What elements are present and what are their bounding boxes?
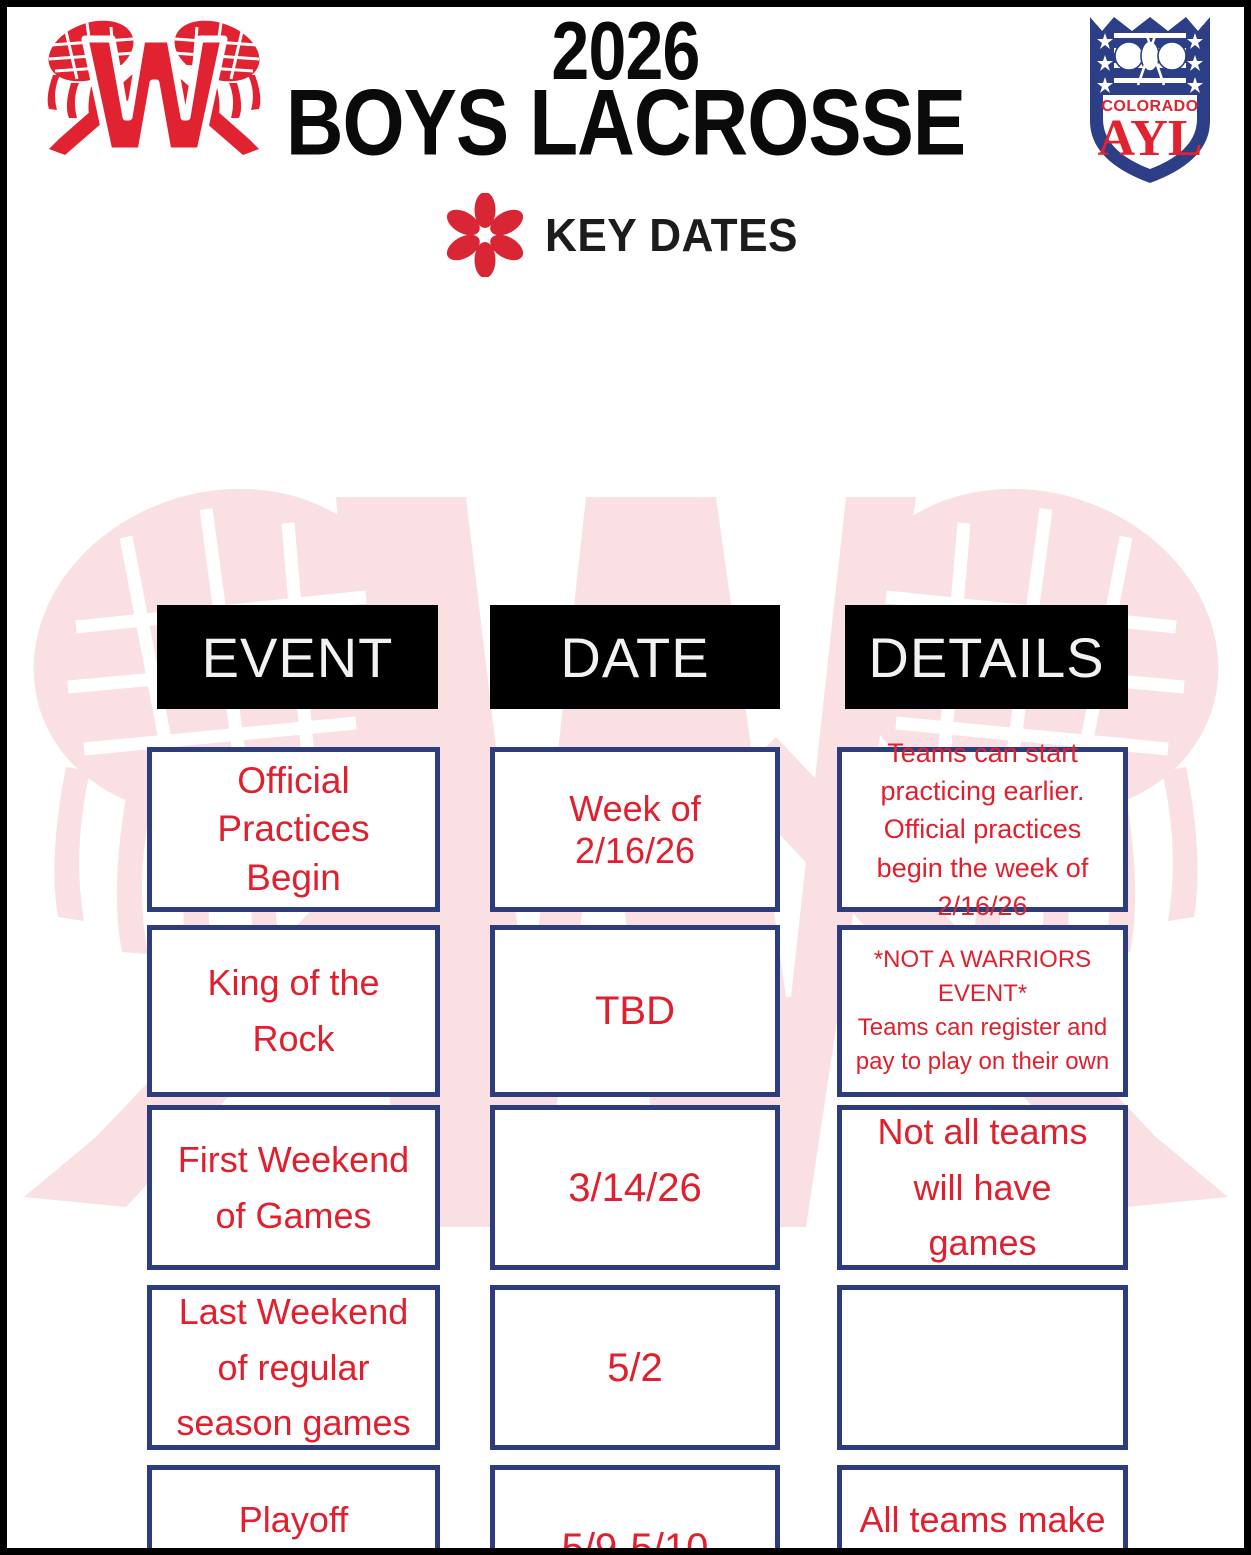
table-body: OfficialPracticesBegin Week of2/16/26 Te… [7,745,1251,1555]
cell-event-text: PlayoffWeekend [152,1492,435,1555]
cell-details-text: All teams makethe playoffs! [842,1492,1123,1555]
cell-event: PlayoffWeekend [147,1465,440,1555]
table-row: OfficialPracticesBegin Week of2/16/26 Te… [7,745,1251,925]
title-block: 2026 BOYS LACROSSE [7,13,1244,153]
cell-event: Last Weekendof regularseason games [147,1285,440,1450]
cell-date-text: TBD [495,988,775,1034]
cell-details: All teams makethe playoffs! [837,1465,1128,1555]
cell-details-text: Not all teamswill havegames [842,1104,1123,1271]
key-dates-label: KEY DATES [545,208,798,262]
table-row: First Weekendof Games 3/14/26 Not all te… [7,1105,1251,1285]
key-dates-subtitle-row: KEY DATES [7,193,1244,277]
cell-event-text: King of theRock [152,955,435,1067]
cell-date-text: Week of2/16/26 [495,788,775,871]
cell-details [837,1285,1128,1450]
cell-date: 5/2 [490,1285,780,1450]
column-header-event: EVENT [157,605,438,709]
cell-details: Not all teamswill havegames [837,1105,1128,1270]
cell-date: Week of2/16/26 [490,747,780,912]
table-row: King of theRock TBD *NOT A WARRIORS EVEN… [7,925,1251,1105]
cell-event-text: Last Weekendof regularseason games [152,1284,435,1451]
column-header-date: DATE [490,605,780,709]
column-header-details: DETAILS [845,605,1128,709]
cell-event: OfficialPracticesBegin [147,747,440,912]
cell-details: *NOT A WARRIORS EVENT*Teams can register… [837,925,1128,1097]
cell-event: First Weekendof Games [147,1105,440,1270]
cell-date: 5/9-5/10 [490,1465,780,1555]
flower-asterisk-icon [443,193,527,277]
cell-details-text: Teams can start practicing earlier. Offi… [842,734,1123,926]
colorado-ayl-shield-logo: COLORADO AYL [1084,11,1216,187]
page-title: BOYS LACROSSE [38,85,1213,160]
key-dates-flyer: 2026 BOYS LACROSSE [0,0,1251,1555]
cell-details-text: *NOT A WARRIORS EVENT*Teams can register… [842,943,1123,1079]
cell-date-text: 5/2 [495,1345,775,1391]
cell-date: 3/14/26 [490,1105,780,1270]
cell-date-text: 3/14/26 [495,1165,775,1211]
cell-event-text: First Weekendof Games [152,1132,435,1244]
cell-event: King of theRock [147,925,440,1097]
svg-text:AYL: AYL [1097,110,1202,167]
cell-date: TBD [490,925,780,1097]
cell-event-text: OfficialPracticesBegin [152,757,435,901]
cell-details: Teams can start practicing earlier. Offi… [837,747,1128,912]
flyer-header: 2026 BOYS LACROSSE [7,7,1244,297]
cell-date-text: 5/9-5/10 [495,1525,775,1555]
table-row: Last Weekendof regularseason games 5/2 [7,1285,1251,1465]
table-header-row: EVENT DATE DETAILS [7,605,1251,709]
table-row: PlayoffWeekend 5/9-5/10 All teams maketh… [7,1465,1251,1555]
